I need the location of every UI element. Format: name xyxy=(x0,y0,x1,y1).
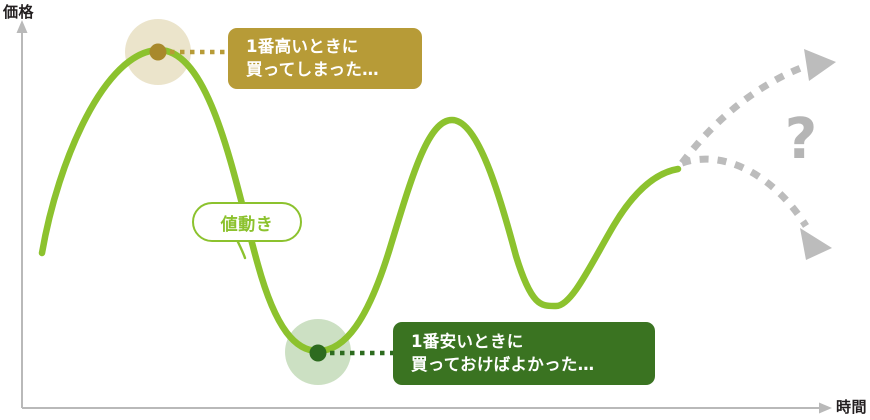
high-marker-dot[interactable] xyxy=(150,44,167,61)
callout-low-line-1: 1番安いときに xyxy=(411,331,637,354)
price-movement-pill-label: 値動き xyxy=(192,202,302,242)
price-movement-figure: 価格 時間 1番高いときに 買ってしまった… 1番安いときに 買っておけばよかっ… xyxy=(0,0,870,420)
callout-should-have-bought-low[interactable]: 1番安いときに 買っておけばよかった… xyxy=(393,322,655,385)
future-question-mark-icon: ? xyxy=(781,108,821,172)
callout-high-line-2: 買ってしまった… xyxy=(246,59,404,82)
future-arrow-down-head xyxy=(800,228,832,260)
callout-low-line-2: 買っておけばよかった… xyxy=(411,354,637,377)
y-axis-label: 価格 xyxy=(3,1,34,22)
x-axis-label: 時間 xyxy=(836,396,867,417)
low-marker-dot[interactable] xyxy=(310,345,327,362)
callout-high-line-1: 1番高いときに xyxy=(246,36,404,59)
callout-bought-at-high[interactable]: 1番高いときに 買ってしまった… xyxy=(228,28,422,89)
x-axis-arrowhead xyxy=(819,403,832,414)
future-arrow-up-head xyxy=(804,49,836,81)
price-curve xyxy=(42,50,678,351)
